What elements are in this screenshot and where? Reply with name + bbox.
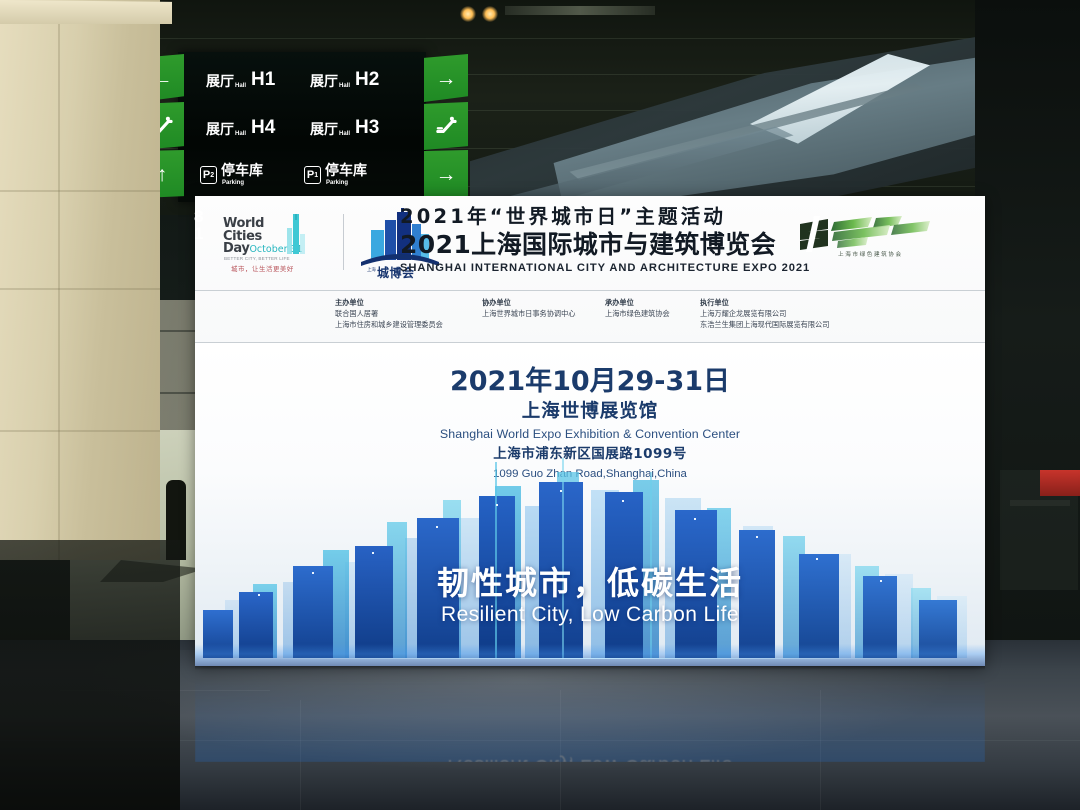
slogan-en: Resilient City, Low Carbon Life (195, 602, 985, 628)
sign-item-hall-h3: 展厅 Hall H3 (310, 118, 379, 137)
hall-label-cn: 展厅 (206, 75, 234, 89)
hall-label-en: Hall (339, 83, 350, 89)
wcd-small-en: BETTER CITY, BETTER LIFE (224, 256, 290, 261)
parking-letter: P (307, 170, 314, 181)
backdrop-title-block: 2021年“世界城市日”主题活动 2021上海国际城市与建筑博览会 SHANGH… (400, 204, 815, 276)
sign-item-parking-p1: P1 停车库 Parking (304, 164, 367, 186)
foreground-pillar (0, 0, 160, 560)
sign-item-hall-h4: 展厅 Hall H4 (206, 118, 275, 137)
hall-code: H1 (251, 70, 275, 89)
hall-code: H3 (355, 118, 379, 137)
credit-block-host: 主办单位 联合国人居署 上海市住房和城乡建设管理委员会 (335, 297, 443, 330)
event-backdrop: World Cities DayOctober 31 BETTER CITY, … (195, 196, 985, 666)
parking-label-cn: 停车库 (221, 164, 263, 178)
credit-title: 执行单位 (700, 297, 829, 308)
sgbc-logo: 上海市绿色建筑协会 (798, 216, 938, 270)
sign-right-arrow-column: → → (424, 52, 468, 202)
hall-code: H2 (355, 70, 379, 89)
hall-label-cn: 展厅 (310, 75, 338, 89)
credit-block-coorganizer: 协办单位 上海世界城市日事务协调中心 (482, 297, 575, 319)
parking-badge-icon: P1 (304, 166, 321, 184)
hall-label-en: Hall (235, 131, 246, 137)
ceiling-lamp (482, 6, 498, 22)
credit-block-executor: 执行单位 上海万耀企龙展览有限公司 东浩兰生集团上海现代国际展览有限公司 (700, 297, 829, 330)
credit-entry: 东浩兰生集团上海现代国际展览有限公司 (700, 319, 829, 330)
parking-label-cn: 停车库 (325, 164, 367, 178)
escalator-icon (424, 102, 468, 150)
sign-item-hall-h1: 展厅 Hall H1 (206, 70, 275, 89)
parking-index: 2 (210, 172, 214, 179)
hall-label-en: Hall (339, 131, 350, 137)
title-line-expo-cn: 2021上海国际城市与建筑博览会 (400, 230, 815, 260)
parking-index: 1 (314, 172, 318, 179)
logo-divider (343, 214, 344, 270)
credit-title: 协办单位 (482, 297, 575, 308)
parking-badge-icon: P2 (200, 166, 217, 184)
skyline-base-line (235, 658, 945, 660)
title-line-theme: 2021年“世界城市日”主题活动 (400, 204, 815, 230)
credit-title: 承办单位 (605, 297, 670, 308)
credit-entry: 联合国人居署 (335, 308, 443, 319)
parking-label-en: Parking (222, 180, 263, 186)
parking-label-en: Parking (326, 180, 367, 186)
photo-scene: 韧性城市，低碳生活 Resilient City, Low Carbon Lif… (0, 0, 1080, 810)
wcd-small-cn: 城市，让生活更美好 (231, 264, 294, 273)
pillar-cap (0, 0, 172, 24)
credit-block-undertaker: 承办单位 上海市绿色建筑协会 (605, 297, 670, 319)
sign-edge-numbers: 81 (194, 208, 202, 242)
hall-label-cn: 展厅 (310, 123, 338, 137)
arrow-right-icon: → (424, 150, 468, 198)
event-venue-en: Shanghai World Expo Exhibition & Convent… (195, 425, 985, 444)
red-sign (1040, 470, 1080, 496)
wayfinding-sign: ← ↑ → → 展厅 Ha (138, 52, 468, 202)
ceiling-lamp (460, 6, 476, 22)
sign-item-parking-p2: P2 停车库 Parking (200, 164, 263, 186)
parking-letter: P (203, 170, 210, 181)
city-expo-tiny-cn: 上海 (367, 268, 376, 273)
hall-label-en: Hall (235, 83, 246, 89)
sgbc-mark-icon (798, 216, 938, 252)
credit-title: 主办单位 (335, 297, 443, 308)
sign-item-hall-h2: 展厅 Hall H2 (310, 70, 379, 89)
hall-label-cn: 展厅 (206, 123, 234, 137)
backdrop-floor-reflection: 韧性城市，低碳生活 Resilient City, Low Carbon Lif… (195, 666, 985, 762)
credit-entry: 上海万耀企龙展览有限公司 (700, 308, 829, 319)
slogan-block: 韧性城市，低碳生活 Resilient City, Low Carbon Lif… (195, 564, 985, 628)
event-address-cn: 上海市浦东新区国展路1099号 (195, 444, 985, 465)
skyline-base-glow (195, 644, 985, 666)
hall-code: H4 (251, 118, 275, 137)
slogan-cn: 韧性城市，低碳生活 (195, 564, 985, 602)
credit-entry: 上海市住房和城乡建设管理委员会 (335, 319, 443, 330)
credit-entry: 上海市绿色建筑协会 (605, 308, 670, 319)
backdrop-main: 2021年10月29-31日 上海世博展览馆 Shanghai World Ex… (195, 343, 985, 666)
event-venue-cn: 上海世博展览馆 (195, 399, 985, 425)
event-date: 2021年10月29-31日 (195, 365, 985, 399)
sgbc-name-cn: 上海市绿色建筑协会 (838, 250, 903, 258)
reflected-slogan-en: Resilient City, Low Carbon Life (195, 754, 985, 762)
wcd-line-day: Day (223, 241, 249, 256)
title-line-expo-en: SHANGHAI INTERNATIONAL CITY AND ARCHITEC… (400, 260, 815, 276)
world-cities-day-logo: World Cities DayOctober 31 BETTER CITY, … (223, 212, 335, 278)
event-details: 2021年10月29-31日 上海世博展览馆 Shanghai World Ex… (195, 365, 985, 483)
wcd-tower-icon (285, 214, 307, 258)
credit-entry: 上海世界城市日事务协调中心 (482, 308, 575, 319)
organizer-credits: 主办单位 联合国人居署 上海市住房和城乡建设管理委员会 协办单位 上海世界城市日… (195, 291, 985, 342)
pillar-base-shadow (0, 540, 180, 810)
arrow-right-icon: → (424, 54, 468, 102)
